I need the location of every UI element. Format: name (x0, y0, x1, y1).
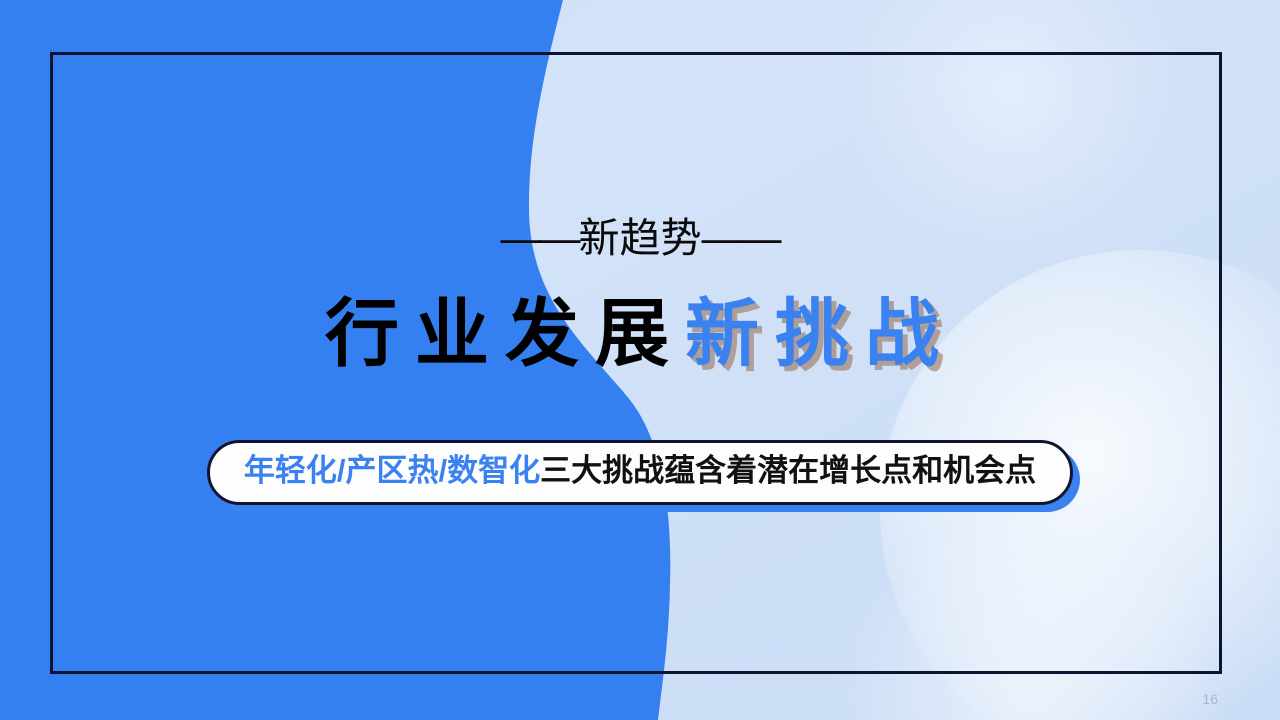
subtitle-pill-body: 年轻化/产区热/数智化三大挑战蕴含着潜在增长点和机会点 (207, 440, 1073, 505)
subtitle-pill-wrapper: 年轻化/产区热/数智化三大挑战蕴含着潜在增长点和机会点 (0, 440, 1280, 505)
slide-canvas: ——新趋势—— 行业发展新挑战 年轻化/产区热/数智化三大挑战蕴含着潜在增长点和… (0, 0, 1280, 720)
eyebrow-rule-left: —— (501, 215, 579, 261)
subtitle-accent-part: 年轻化/产区热/数智化 (244, 453, 540, 488)
eyebrow-heading: ——新趋势—— (0, 218, 1280, 259)
subtitle-dark-part: 三大挑战蕴含着潜在增长点和机会点 (540, 453, 1036, 488)
page-title-dark-part: 行业发展 (325, 292, 685, 375)
page-title-accent-part: 新挑战 (685, 292, 955, 375)
slide-content: ——新趋势—— 行业发展新挑战 年轻化/产区热/数智化三大挑战蕴含着潜在增长点和… (0, 0, 1280, 720)
eyebrow-rule-right: —— (702, 215, 780, 261)
subtitle-pill: 年轻化/产区热/数智化三大挑战蕴含着潜在增长点和机会点 (207, 440, 1073, 505)
page-number: 16 (1202, 691, 1218, 707)
page-title: 行业发展新挑战 (0, 297, 1280, 371)
eyebrow-text: 新趋势 (579, 215, 702, 261)
